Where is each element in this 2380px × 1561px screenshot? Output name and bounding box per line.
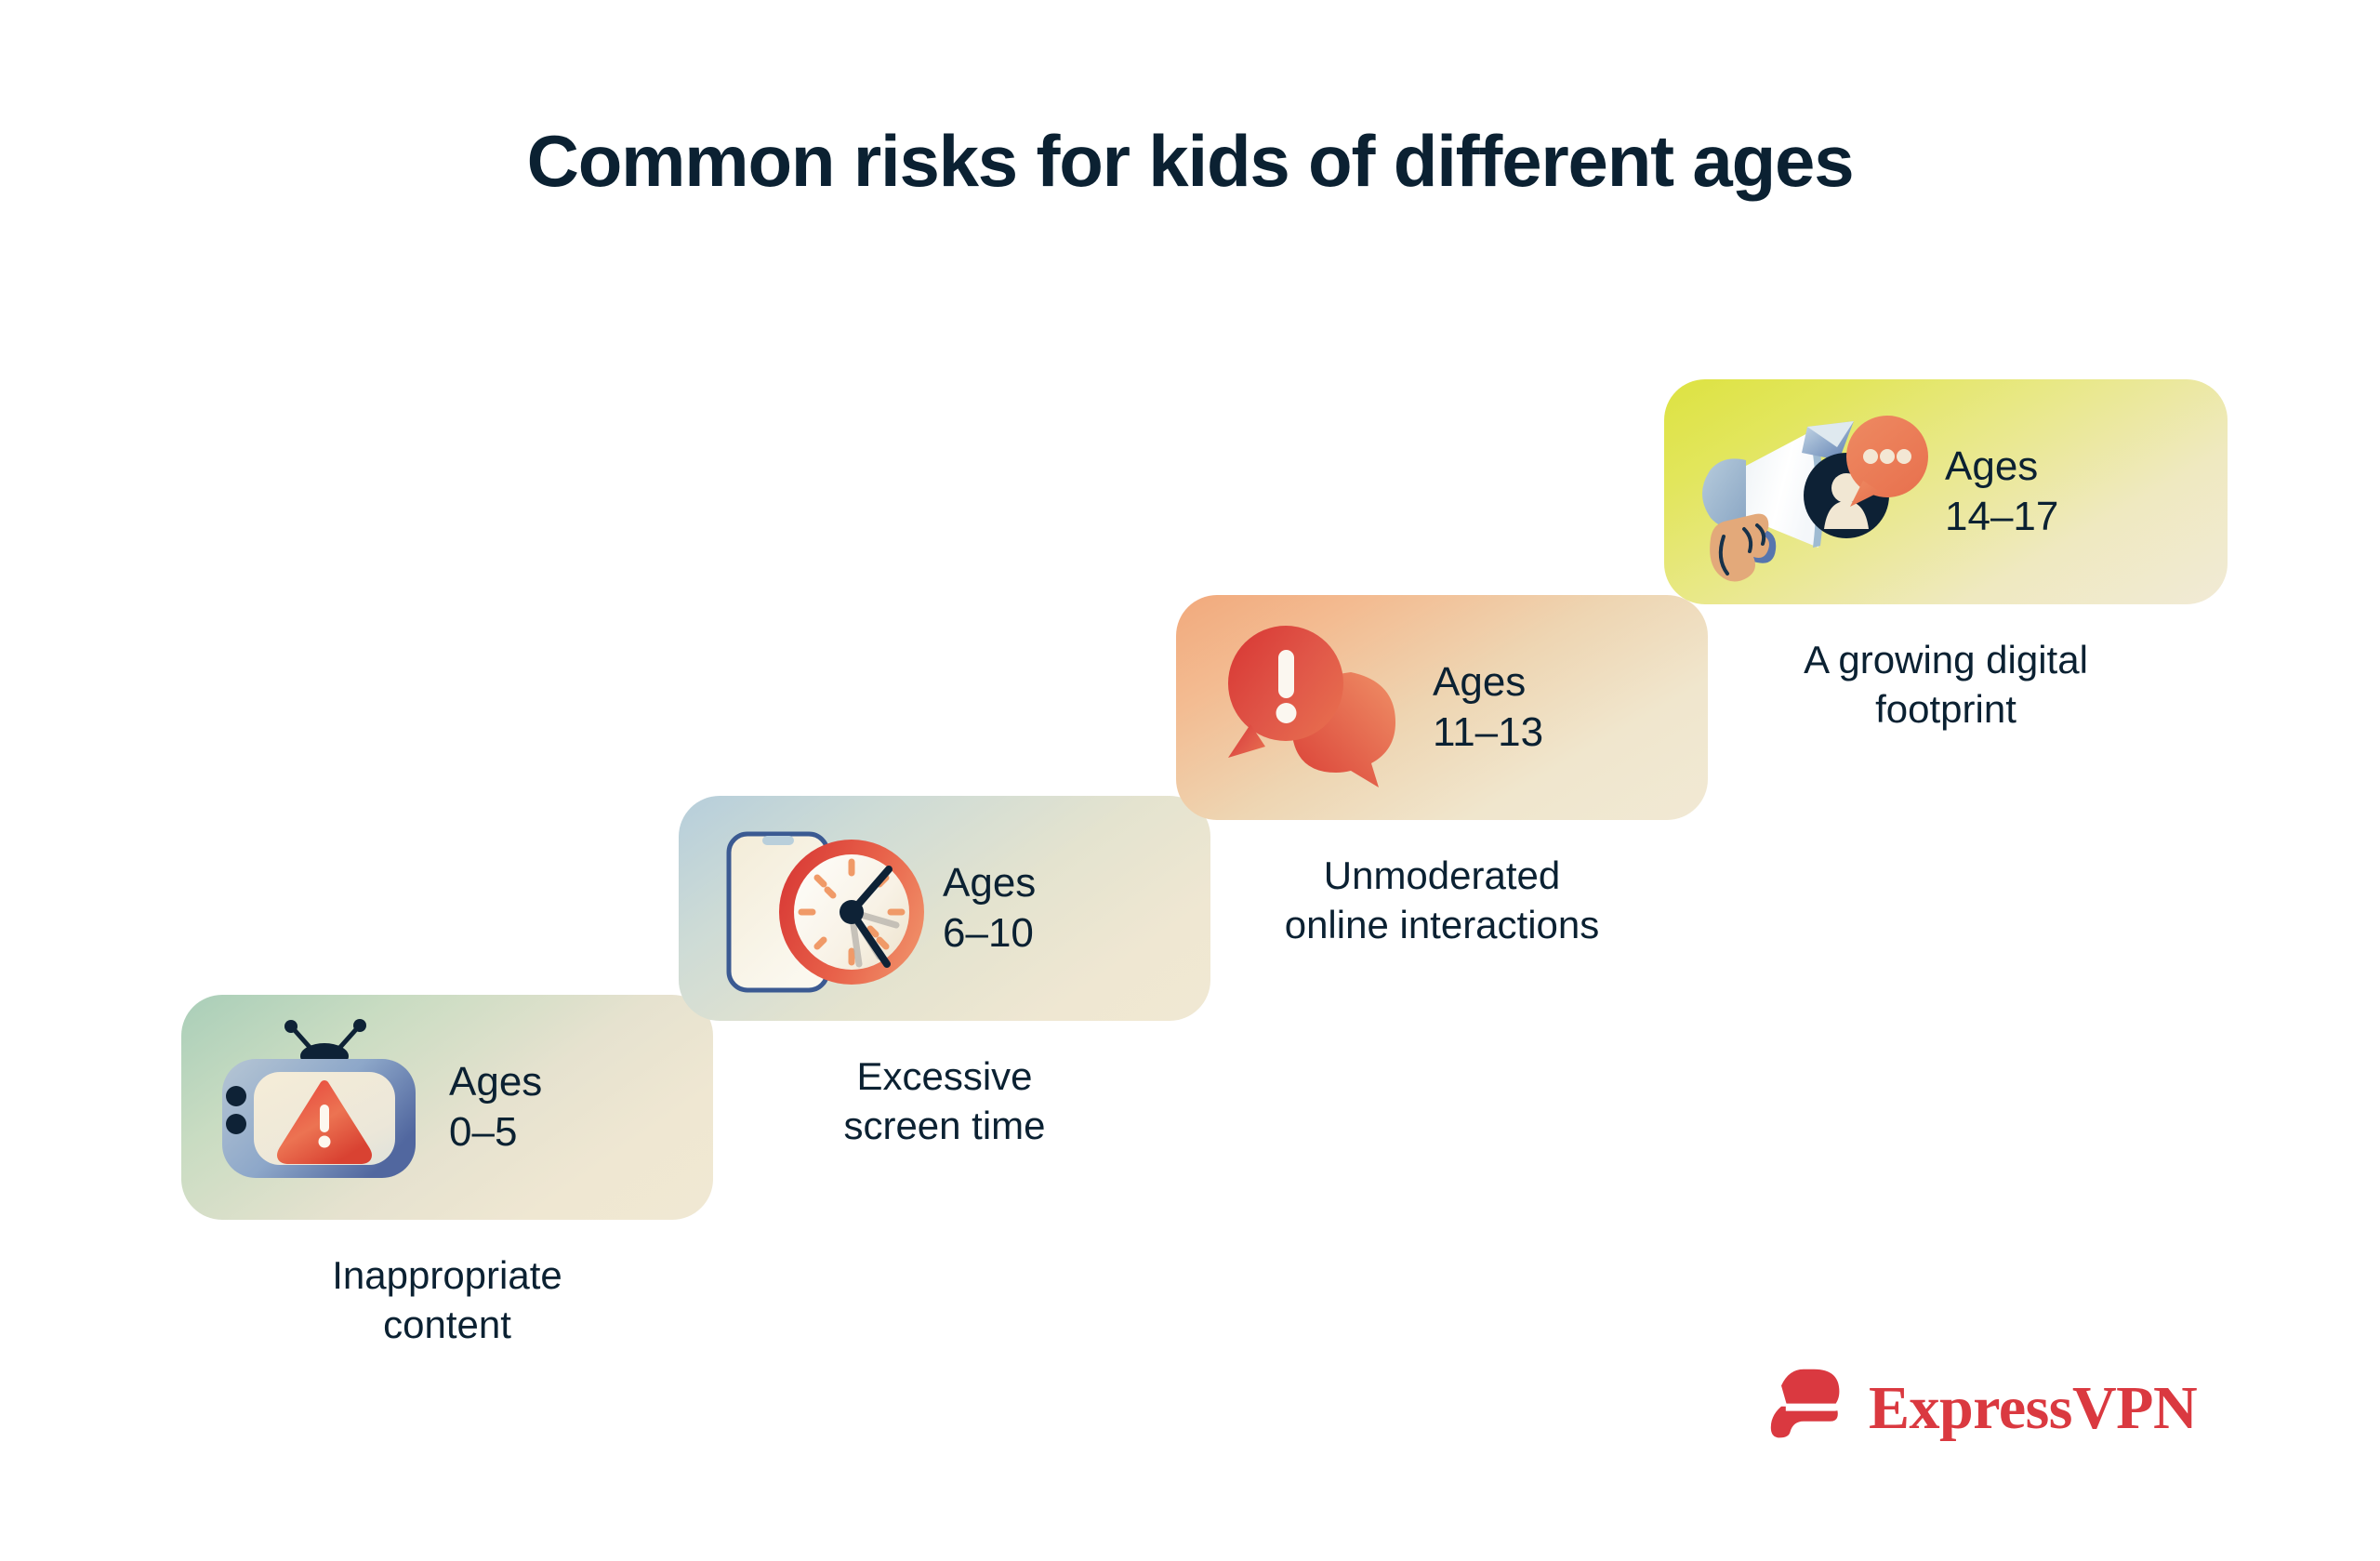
caption-unmoderated-online-interactions: Unmoderated online interactions <box>1163 852 1721 950</box>
card-ages-6-10: Ages 6–10 <box>679 796 1210 1021</box>
caption-excessive-screen-time: Excessive screen time <box>679 1052 1210 1151</box>
ages-label: Ages 0–5 <box>449 1057 542 1157</box>
step-ages-14-17: Ages 14–17 A growing digital footprint <box>1664 379 2228 734</box>
expressvpn-e-mark-icon <box>1766 1365 1848 1451</box>
caption-inappropriate-content: Inappropriate content <box>181 1251 713 1350</box>
card-ages-11-13: Ages 11–13 <box>1176 595 1708 820</box>
card-ages-0-5: Ages 0–5 <box>181 995 713 1220</box>
phone-clock-icon <box>714 815 937 1001</box>
tv-warning-icon <box>211 1014 443 1200</box>
step-ages-11-13: Ages 11–13 Unmoderated online interactio… <box>1176 595 1721 950</box>
expressvpn-wordmark: ExpressVPN <box>1869 1373 2197 1444</box>
ages-label: Ages 6–10 <box>943 858 1036 958</box>
ages-label: Ages 11–13 <box>1433 657 1543 757</box>
caption-growing-digital-footprint: A growing digital footprint <box>1664 636 2228 734</box>
card-ages-14-17: Ages 14–17 <box>1664 379 2228 604</box>
step-ages-0-5: Ages 0–5 Inappropriate content <box>181 995 713 1350</box>
expressvpn-logo: ExpressVPN <box>1766 1365 2197 1451</box>
infographic-canvas: Common risks for kids of different ages <box>0 0 2380 1561</box>
megaphone-profile-icon <box>1690 399 1939 585</box>
page-title: Common risks for kids of different ages <box>0 119 2380 204</box>
ages-label: Ages 14–17 <box>1945 442 2058 541</box>
speech-bubbles-alert-icon <box>1213 615 1427 800</box>
step-ages-6-10: Ages 6–10 Excessive screen time <box>679 796 1210 1151</box>
